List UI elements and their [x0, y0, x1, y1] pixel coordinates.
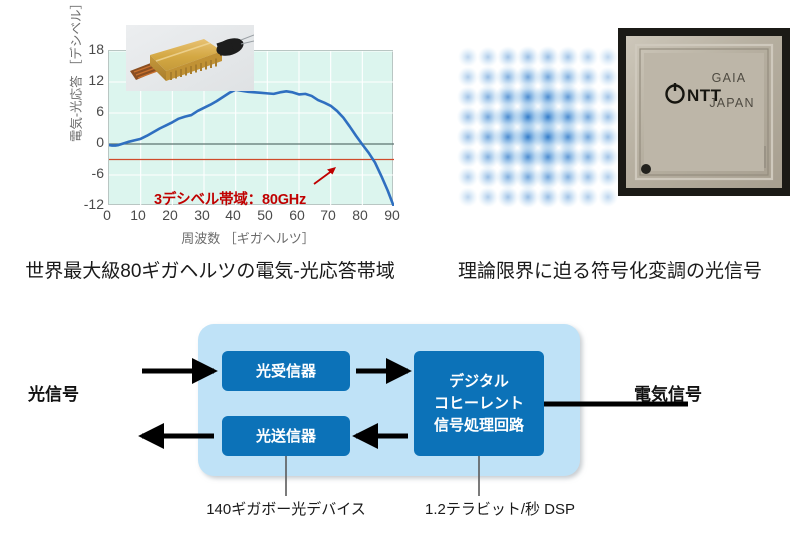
caption-shaped-constellation: 理論限界に迫る符号化変調の光信号 [420, 256, 800, 283]
block-dsp-label-line2: コヒーレント [434, 395, 524, 412]
y-tick-12: 12 [74, 73, 104, 87]
screenshot-root: 電気-光応答 ［デシベル］ 18 12 6 0 -6 -12 3デシベル帯域：8… [0, 0, 800, 534]
diagram-svg: 光受信器 光送信器 デジタル コヒーレント 信号処理回路 光信号 電気信号 14… [0, 310, 800, 534]
x-tick-90: 90 [379, 208, 405, 222]
constellation-points [457, 46, 620, 209]
photo-optical-modulator-device [126, 25, 254, 91]
x-tick-40: 40 [220, 208, 246, 222]
label-electrical-signal: 電気信号 [634, 384, 702, 404]
block-optical-receiver-label: 光受信器 [255, 362, 317, 380]
chart-x-axis-title: 周波数 ［ギガヘルツ］ [88, 228, 408, 247]
x-tick-0: 0 [94, 208, 120, 222]
constellation-diagram [448, 22, 628, 232]
device-photo-svg [126, 25, 254, 91]
chart-bandwidth-annotation: 3デシベル帯域：80GHz [154, 188, 306, 209]
x-tick-30: 30 [189, 208, 215, 222]
x-tick-20: 20 [157, 208, 183, 222]
photo-dsp-chip: NTT GAIA JAPAN [618, 28, 790, 196]
y-tick-18: 18 [74, 42, 104, 56]
footnote-dsp: 1.2テラビット/秒 DSP [425, 501, 575, 518]
transceiver-block-diagram: 光受信器 光送信器 デジタル コヒーレント 信号処理回路 光信号 電気信号 14… [0, 310, 800, 534]
caption-electro-optic-bandwidth: 世界最大級80ギガヘルツの電気-光応答帯域 [0, 256, 420, 283]
label-optical-signal: 光信号 [27, 384, 79, 404]
x-tick-60: 60 [284, 208, 310, 222]
x-tick-80: 80 [347, 208, 373, 222]
x-tick-50: 50 [252, 208, 278, 222]
chart-y-tick-labels: 18 12 6 0 -6 -12 [70, 42, 104, 214]
y-tick-6: 6 [74, 104, 104, 118]
chart-x-tick-labels: 0 10 20 30 40 50 60 70 80 90 [94, 208, 414, 228]
chip-codename-text: GAIA [712, 71, 747, 85]
block-optical-transmitter-label: 光送信器 [255, 427, 317, 445]
chip-origin-text: JAPAN [709, 96, 754, 110]
chip-photo-svg: NTT GAIA JAPAN [618, 28, 790, 196]
x-tick-10: 10 [125, 208, 151, 222]
x-tick-70: 70 [315, 208, 341, 222]
footnote-device: 140ギガボー光デバイス [206, 500, 366, 518]
block-dsp-label-line1: デジタル [449, 372, 509, 390]
y-tick-0: 0 [74, 135, 104, 149]
constellation-svg [448, 22, 628, 232]
block-dsp-label-line3: 信号処理回路 [434, 416, 525, 434]
eo-response-chart-panel: 電気-光応答 ［デシベル］ 18 12 6 0 -6 -12 3デシベル帯域：8… [42, 22, 412, 247]
y-tick-m6: -6 [74, 166, 104, 180]
